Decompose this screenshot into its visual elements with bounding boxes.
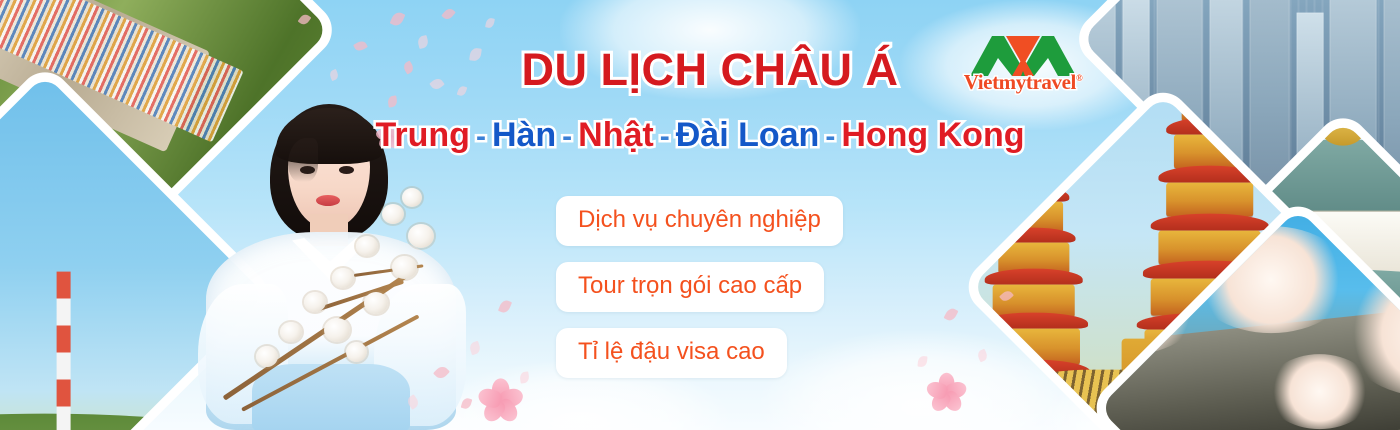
registered-mark: ®: [1076, 73, 1082, 83]
country-separator: -: [660, 120, 670, 153]
feature-pill: Tỉ lệ đậu visa cao: [556, 328, 787, 378]
vietmytravel-logo[interactable]: Vietmytravel®: [963, 33, 1083, 101]
country-separator: -: [825, 120, 835, 153]
country-name: Đài Loan: [676, 116, 820, 154]
feature-pill: Tour trọn gói cao cấp: [556, 262, 824, 312]
feature-list: Dịch vụ chuyên nghiệpTour trọn gói cao c…: [556, 196, 843, 378]
country-separator: -: [476, 120, 486, 153]
logo-word-text: Vietmytravel: [964, 70, 1076, 94]
logo-wordmark: Vietmytravel®: [963, 70, 1083, 95]
feature-pill: Dịch vụ chuyên nghiệp: [556, 196, 843, 246]
country-name: Hàn: [492, 116, 556, 154]
travel-banner: DU LỊCH CHÂU Á Trung-Hàn-Nhật-Đài Loan-H…: [0, 0, 1400, 430]
country-name: Nhật: [578, 116, 654, 154]
country-list: Trung-Hàn-Nhật-Đài Loan-Hong Kong: [350, 116, 1050, 155]
country-name: Trung: [376, 116, 470, 154]
country-separator: -: [562, 120, 572, 153]
country-name: Hong Kong: [841, 116, 1024, 154]
page-title: DU LỊCH CHÂU Á: [500, 44, 920, 96]
